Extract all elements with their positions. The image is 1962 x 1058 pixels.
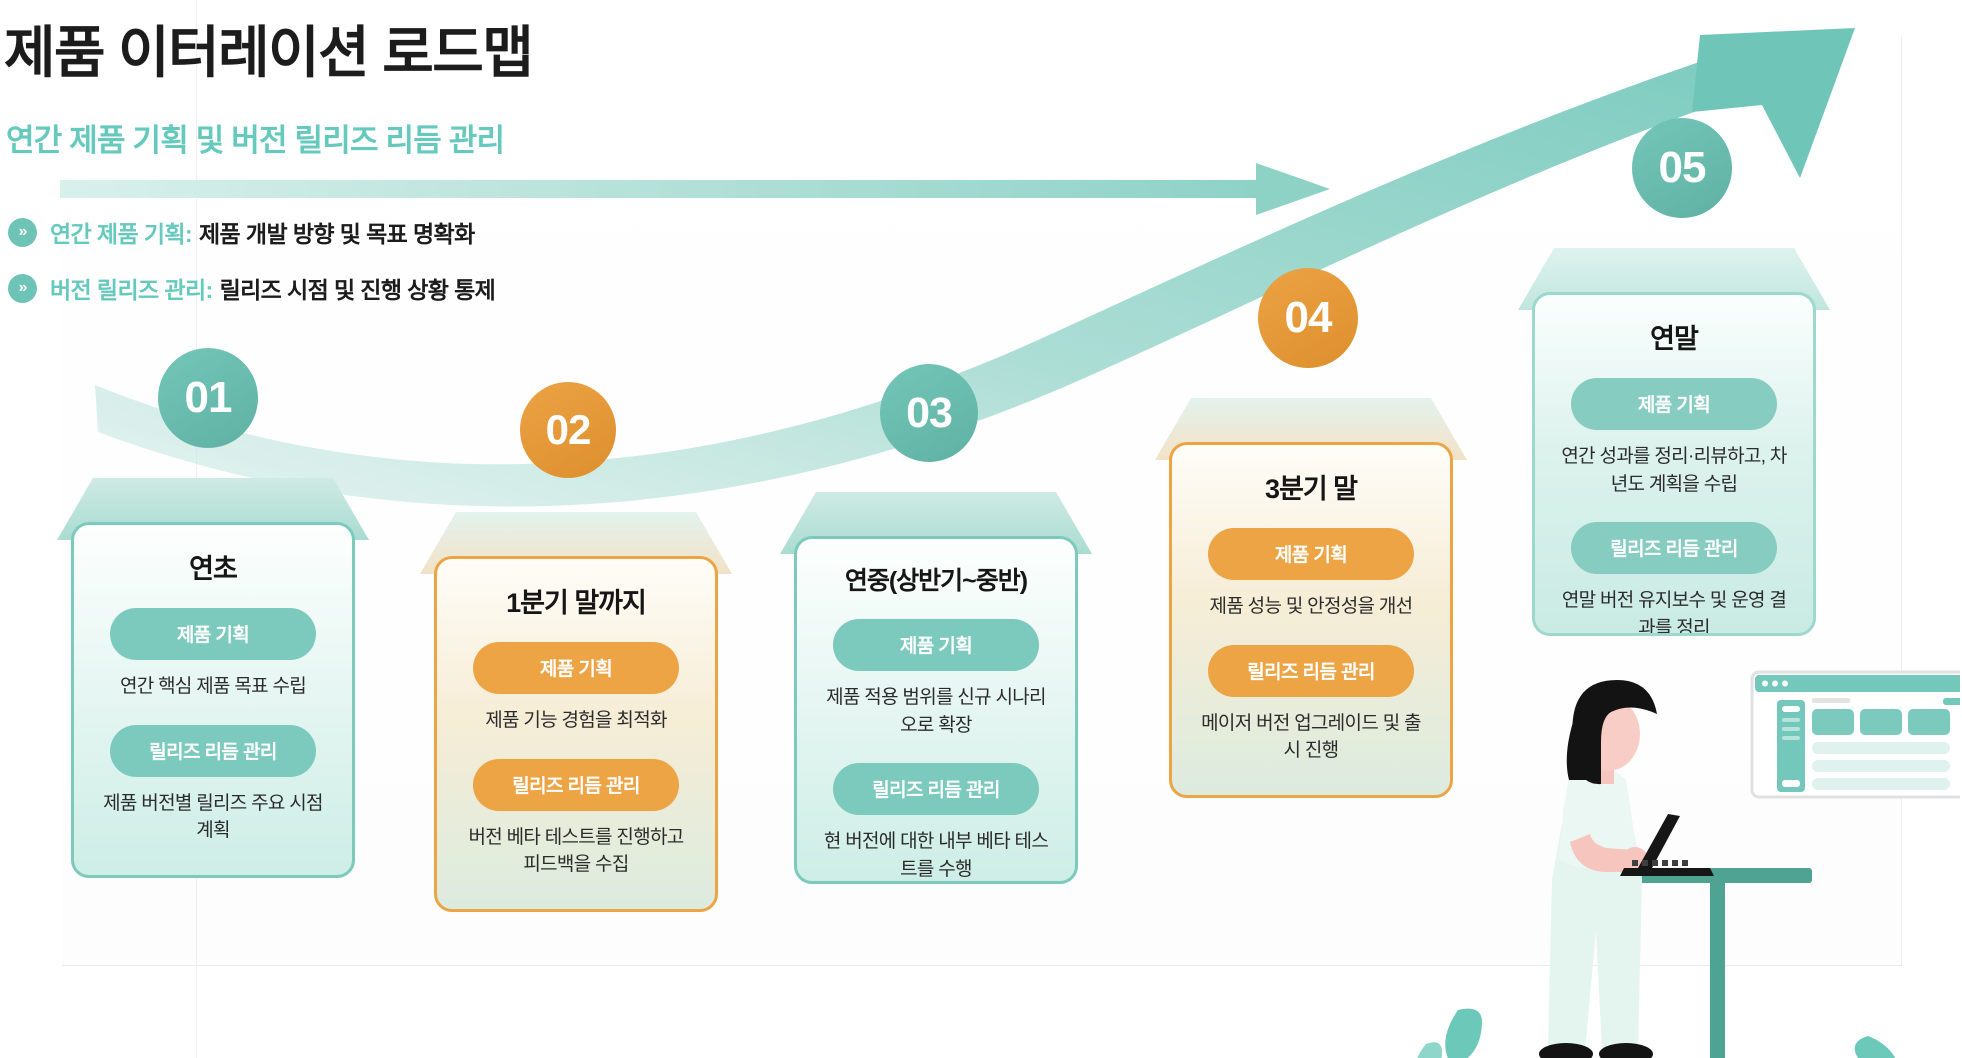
stage-badge-02[interactable]: 02 (520, 382, 616, 478)
bullet-item-1: » 버전 릴리즈 관리: 릴리즈 시점 및 진행 상황 통제 (8, 271, 495, 305)
stage-card-01[interactable]: 연초 제품 기획 연간 핵심 제품 목표 수립 릴리즈 리듬 관리 제품 버전별… (57, 478, 369, 878)
stage-card-03[interactable]: 연중(상반기~중반) 제품 기획 제품 적용 범위를 신규 시나리오로 확장 릴… (780, 492, 1092, 884)
stage-badge-label: 05 (1659, 143, 1706, 193)
stage-badge-05[interactable]: 05 (1632, 118, 1732, 218)
bullet-key: 연간 제품 기획: (50, 215, 192, 249)
stage-badge-01[interactable]: 01 (158, 348, 258, 448)
stage-card-04[interactable]: 3분기 말 제품 기획 제품 성능 및 안정성을 개선 릴리즈 리듬 관리 메이… (1155, 398, 1467, 798)
card-title: 연초 (90, 547, 336, 586)
card-desc-planning: 제품 기능 경험을 최적화 (459, 707, 693, 735)
leaf-icon (1855, 1036, 1900, 1058)
card-body: 3분기 말 제품 기획 제품 성능 및 안정성을 개선 릴리즈 리듬 관리 메이… (1169, 442, 1453, 798)
card-desc-planning: 제품 적용 범위를 신규 시나리오로 확장 (819, 684, 1053, 739)
page-subtitle: 연간 제품 기획 및 버전 릴리즈 리듬 관리 (6, 115, 504, 160)
stage-card-05[interactable]: 연말 제품 기획 연간 성과를 정리·리뷰하고, 차년도 계획을 수립 릴리즈 … (1518, 248, 1830, 636)
stage-card-02[interactable]: 1분기 말까지 제품 기획 제품 기능 경험을 최적화 릴리즈 리듬 관리 버전… (420, 512, 732, 912)
card-pill-planning[interactable]: 제품 기획 (473, 642, 680, 694)
header-bullet-list: » 연간 제품 기획: 제품 개발 방향 및 목표 명확화 » 버전 릴리즈 관… (8, 215, 495, 327)
card-desc-release: 제품 버전별 릴리즈 주요 시점 계획 (96, 790, 330, 845)
browser-window-mockup (1752, 672, 1960, 797)
card-desc-release: 메이저 버전 업그레이드 및 출시 진행 (1194, 710, 1428, 765)
card-pill-release[interactable]: 릴리즈 리듬 관리 (833, 763, 1040, 815)
card-body: 연중(상반기~중반) 제품 기획 제품 적용 범위를 신규 시나리오로 확장 릴… (794, 536, 1078, 884)
card-desc-release: 현 버전에 대한 내부 베타 테스트를 수행 (819, 828, 1053, 883)
card-title: 1분기 말까지 (453, 581, 699, 620)
card-title: 3분기 말 (1188, 467, 1434, 506)
card-desc-planning: 연간 핵심 제품 목표 수립 (96, 673, 330, 701)
stage-badge-label: 04 (1285, 293, 1332, 343)
bullet-value: 제품 개발 방향 및 목표 명확화 (199, 215, 475, 249)
card-title: 연말 (1551, 317, 1797, 356)
card-pill-release[interactable]: 릴리즈 리듬 관리 (110, 725, 317, 777)
card-pill-release[interactable]: 릴리즈 리듬 관리 (1571, 522, 1778, 574)
leaf-icon (1415, 1009, 1482, 1058)
card-pill-planning[interactable]: 제품 기획 (833, 619, 1040, 671)
card-body: 연말 제품 기획 연간 성과를 정리·리뷰하고, 차년도 계획을 수립 릴리즈 … (1532, 292, 1816, 636)
card-pill-planning[interactable]: 제품 기획 (110, 608, 317, 660)
stage-badge-label: 03 (906, 389, 952, 438)
card-pill-planning[interactable]: 제품 기획 (1208, 528, 1415, 580)
card-desc-release: 연말 버전 유지보수 및 운영 결과를 정리 (1557, 587, 1791, 636)
bullet-item-0: » 연간 제품 기획: 제품 개발 방향 및 목표 명확화 (8, 215, 495, 249)
card-pill-planning[interactable]: 제품 기획 (1571, 378, 1778, 430)
card-desc-planning: 연간 성과를 정리·리뷰하고, 차년도 계획을 수립 (1557, 443, 1791, 498)
card-title: 연중(상반기~중반) (813, 561, 1059, 597)
double-chevron-icon: » (8, 274, 37, 303)
stage-badge-label: 02 (546, 406, 591, 454)
card-desc-release: 버전 베타 테스트를 진행하고 피드백을 수집 (459, 824, 693, 879)
stage-badge-label: 01 (185, 373, 232, 423)
standing-desk (1636, 868, 1812, 1058)
stage-badge-04[interactable]: 04 (1258, 268, 1358, 368)
card-pill-release[interactable]: 릴리즈 리듬 관리 (1208, 645, 1415, 697)
browser-sidebar (1777, 700, 1805, 792)
stage-badge-03[interactable]: 03 (880, 364, 978, 462)
page-title: 제품 이터레이션 로드맵 (4, 8, 532, 89)
card-desc-planning: 제품 성능 및 안정성을 개선 (1194, 593, 1428, 621)
double-chevron-icon: » (8, 218, 37, 247)
roadmap-canvas: 제품 이터레이션 로드맵 연간 제품 기획 및 버전 릴리즈 리듬 관리 » 연… (0, 0, 1962, 1058)
card-body: 1분기 말까지 제품 기획 제품 기능 경험을 최적화 릴리즈 리듬 관리 버전… (434, 556, 718, 912)
card-body: 연초 제품 기획 연간 핵심 제품 목표 수립 릴리즈 리듬 관리 제품 버전별… (71, 522, 355, 878)
bullet-key: 버전 릴리즈 관리: (50, 271, 213, 305)
workspace-illustration (1380, 630, 1960, 1058)
card-pill-release[interactable]: 릴리즈 리듬 관리 (473, 759, 680, 811)
bullet-value: 릴리즈 시점 및 진행 상황 통제 (220, 271, 496, 305)
